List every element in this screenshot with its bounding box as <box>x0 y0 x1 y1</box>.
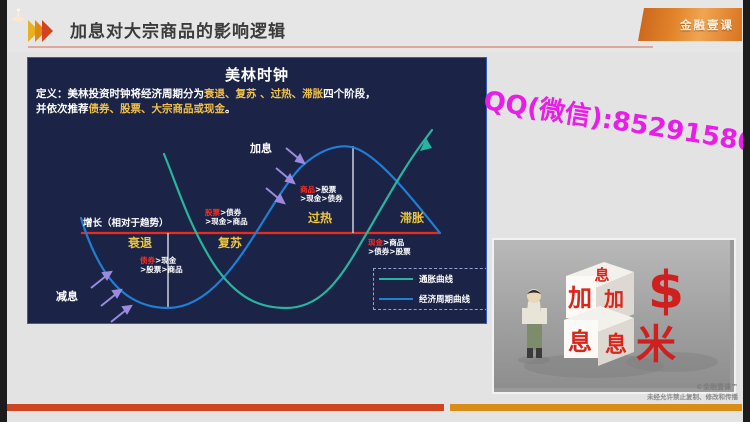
page-title: 加息对大宗商品的影响逻辑 <box>70 17 286 42</box>
footer-copyright: ©金融壹课™ 未经允许禁止复制、修改和传播 <box>647 382 738 402</box>
svg-text:息: 息 <box>594 266 609 284</box>
chart-legend: 通胀曲线 经济周期曲线 <box>373 268 487 310</box>
assets-overheat: 商品>股票 >现金>债券 <box>300 185 343 204</box>
legend-swatch-inflation <box>379 278 413 280</box>
assets-overheat-line2: >现金>债券 <box>300 194 343 203</box>
video-frame-right-border <box>743 0 750 422</box>
svg-text:加: 加 <box>603 287 624 311</box>
svg-text:米: 米 <box>636 322 676 368</box>
assets-overheat-rest: >股票 <box>315 185 336 194</box>
svg-text:息: 息 <box>605 332 627 358</box>
legend-swatch-cycle <box>379 298 413 300</box>
assets-recession-line2: >股票>商品 <box>140 265 183 274</box>
legend-item-cycle: 经济周期曲线 <box>374 289 487 309</box>
brand-logo: 金融壹课 <box>638 8 742 41</box>
svg-text:加: 加 <box>568 284 592 312</box>
assets-recession-first: 债券 <box>140 256 155 265</box>
assets-stagflation-first: 现金 <box>368 238 383 247</box>
assets-recovery-line2: >现金>商品 <box>205 217 248 226</box>
title-divider <box>28 46 653 48</box>
rate-hike-photo: 加 加 息 息 息 $ 米 <box>492 238 736 394</box>
assets-recovery: 股票>债券 >现金>商品 <box>205 208 248 227</box>
phase-label-recovery: 复苏 <box>218 236 242 251</box>
growth-axis-label: 增长（相对于趋势） <box>83 218 169 230</box>
legend-item-inflation: 通胀曲线 <box>374 269 487 289</box>
brand-logo-label: 金融壹课 <box>680 17 734 33</box>
footer-bar-orange <box>450 404 742 411</box>
slide-header: 加息对大宗商品的影响逻辑 金融壹课 <box>0 0 750 52</box>
phase-label-overheat: 过热 <box>308 211 332 226</box>
assets-stagflation-rest: >商品 <box>383 238 404 247</box>
footer-notice-line: 未经允许禁止复制、修改和传播 <box>647 392 738 402</box>
legend-label-inflation: 通胀曲线 <box>419 273 453 285</box>
assets-recovery-first: 股票 <box>205 208 220 217</box>
phase-label-recession: 衰退 <box>128 236 152 251</box>
contact-watermark: QQ(微信):852915801 <box>481 80 750 162</box>
double-chevron-right-icon <box>28 20 49 42</box>
merrill-lynch-clock-chart: 美林时钟 定义：美林投资时钟将经济周期分为衰退、复苏 、过热、滞胀四个阶段， 并… <box>27 57 487 324</box>
phase-label-stagflation: 滞胀 <box>400 211 424 226</box>
legend-label-cycle: 经济周期曲线 <box>419 293 470 305</box>
assets-stagflation: 现金>商品 >债券>股票 <box>368 238 411 257</box>
video-frame-left-border <box>0 0 7 422</box>
assets-recession-rest: >现金 <box>155 256 176 265</box>
assets-recession: 债券>现金 >股票>商品 <box>140 256 183 275</box>
character-blocks: 加 加 息 息 息 <box>564 262 634 366</box>
assets-stagflation-line2: >债券>股票 <box>368 247 411 256</box>
footer-bar-red <box>7 404 444 411</box>
rate-hike-label: 加息 <box>250 142 272 156</box>
svg-text:$: $ <box>648 261 684 321</box>
assets-recovery-rest: >债券 <box>220 208 241 217</box>
book-torch-icon <box>9 7 28 26</box>
assets-overheat-first: 商品 <box>300 185 315 194</box>
rate-hike-arrows <box>266 148 304 203</box>
rate-cut-label: 减息 <box>56 290 78 304</box>
svg-text:息: 息 <box>568 328 592 356</box>
footer-copyright-line: ©金融壹课™ <box>647 382 738 392</box>
